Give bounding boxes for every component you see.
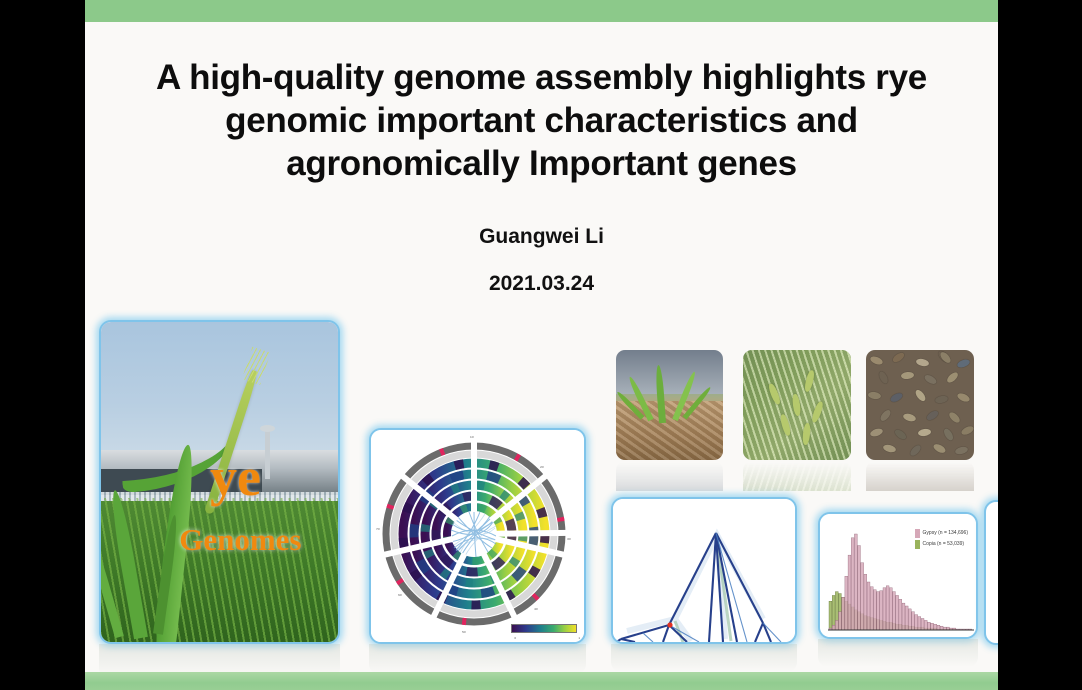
svg-text:7R: 7R [376,527,381,531]
letterbox-left [0,0,85,690]
field-scene-image: ye Genomes [101,322,338,642]
svg-text:1R: 1R [470,435,475,439]
svg-text:2R: 2R [540,465,545,469]
top-accent-band [85,0,998,22]
author-name: Guangwei Li [109,225,974,249]
circos-colorbar [511,624,577,633]
bottom-accent-band [85,672,998,690]
spike-image [743,350,851,460]
svg-text:4R: 4R [534,607,539,611]
phylogenetic-network-panel[interactable] [611,497,797,644]
presentation-slide: A high-quality genome assembly highlight… [85,0,998,690]
title-line-2: genomic important characteristics and [109,99,974,142]
svg-text:3R: 3R [567,537,572,541]
phylogenetic-network-svg [613,499,797,644]
rye-field-photo-panel[interactable]: ye Genomes [99,320,340,644]
highlight-node-marker [667,622,672,627]
seedling-photo-reflection [616,461,723,491]
circos-svg: 1R 2R 3R 4R 5R 6R 7R [371,430,586,644]
page-title: A high-quality genome assembly highlight… [109,56,974,185]
legend-label-copia: Copia (n = 53,039) [923,539,965,550]
histogram-legend: Gypsy (n = 134,696) Copia (n = 53,039) [915,528,968,550]
colorbar-max-label: 1 [578,636,580,640]
legend-entry-gypsy: Gypsy (n = 134,696) [915,528,968,539]
legend-label-gypsy: Gypsy (n = 134,696) [923,528,968,539]
logo-word-genomes: Genomes [179,524,301,555]
letterbox-right [998,0,1082,690]
rye-grain-photo[interactable] [866,350,974,460]
legend-entry-copia: Copia (n = 53,039) [915,539,968,550]
title-line-1: A high-quality genome assembly highlight… [109,56,974,99]
presentation-date: 2021.03.24 [109,272,974,296]
ltr-insertion-histogram-panel[interactable]: Gypsy (n = 134,696) Copia (n = 53,039) [818,512,978,639]
circos-panel-reflection [369,644,586,674]
histogram-panel-reflection [818,639,978,667]
rye-spike-photo[interactable] [743,350,851,460]
legend-swatch-copia [915,540,920,549]
rye-seedling-photo[interactable] [616,350,723,460]
title-line-3: agronomically Important genes [109,142,974,185]
grain-image [866,350,974,460]
grain-photo-reflection [866,461,974,491]
slide-viewer: A high-quality genome assembly highlight… [0,0,1082,690]
legend-swatch-gypsy [915,529,920,538]
spike-photo-reflection [743,461,851,491]
svg-text:6R: 6R [398,593,403,597]
logo-word-ye: ye [210,450,261,504]
tree-panel-reflection [611,644,797,672]
colorbar-min-label: 0 [514,636,516,640]
seedling-image [616,350,723,460]
svg-text:5R: 5R [462,630,467,634]
circos-plot-canvas: 1R 2R 3R 4R 5R 6R 7R 0 1 [371,430,584,642]
circos-genome-plot-panel[interactable]: 1R 2R 3R 4R 5R 6R 7R 0 1 [369,428,586,644]
partially-visible-panel[interactable] [984,500,998,645]
